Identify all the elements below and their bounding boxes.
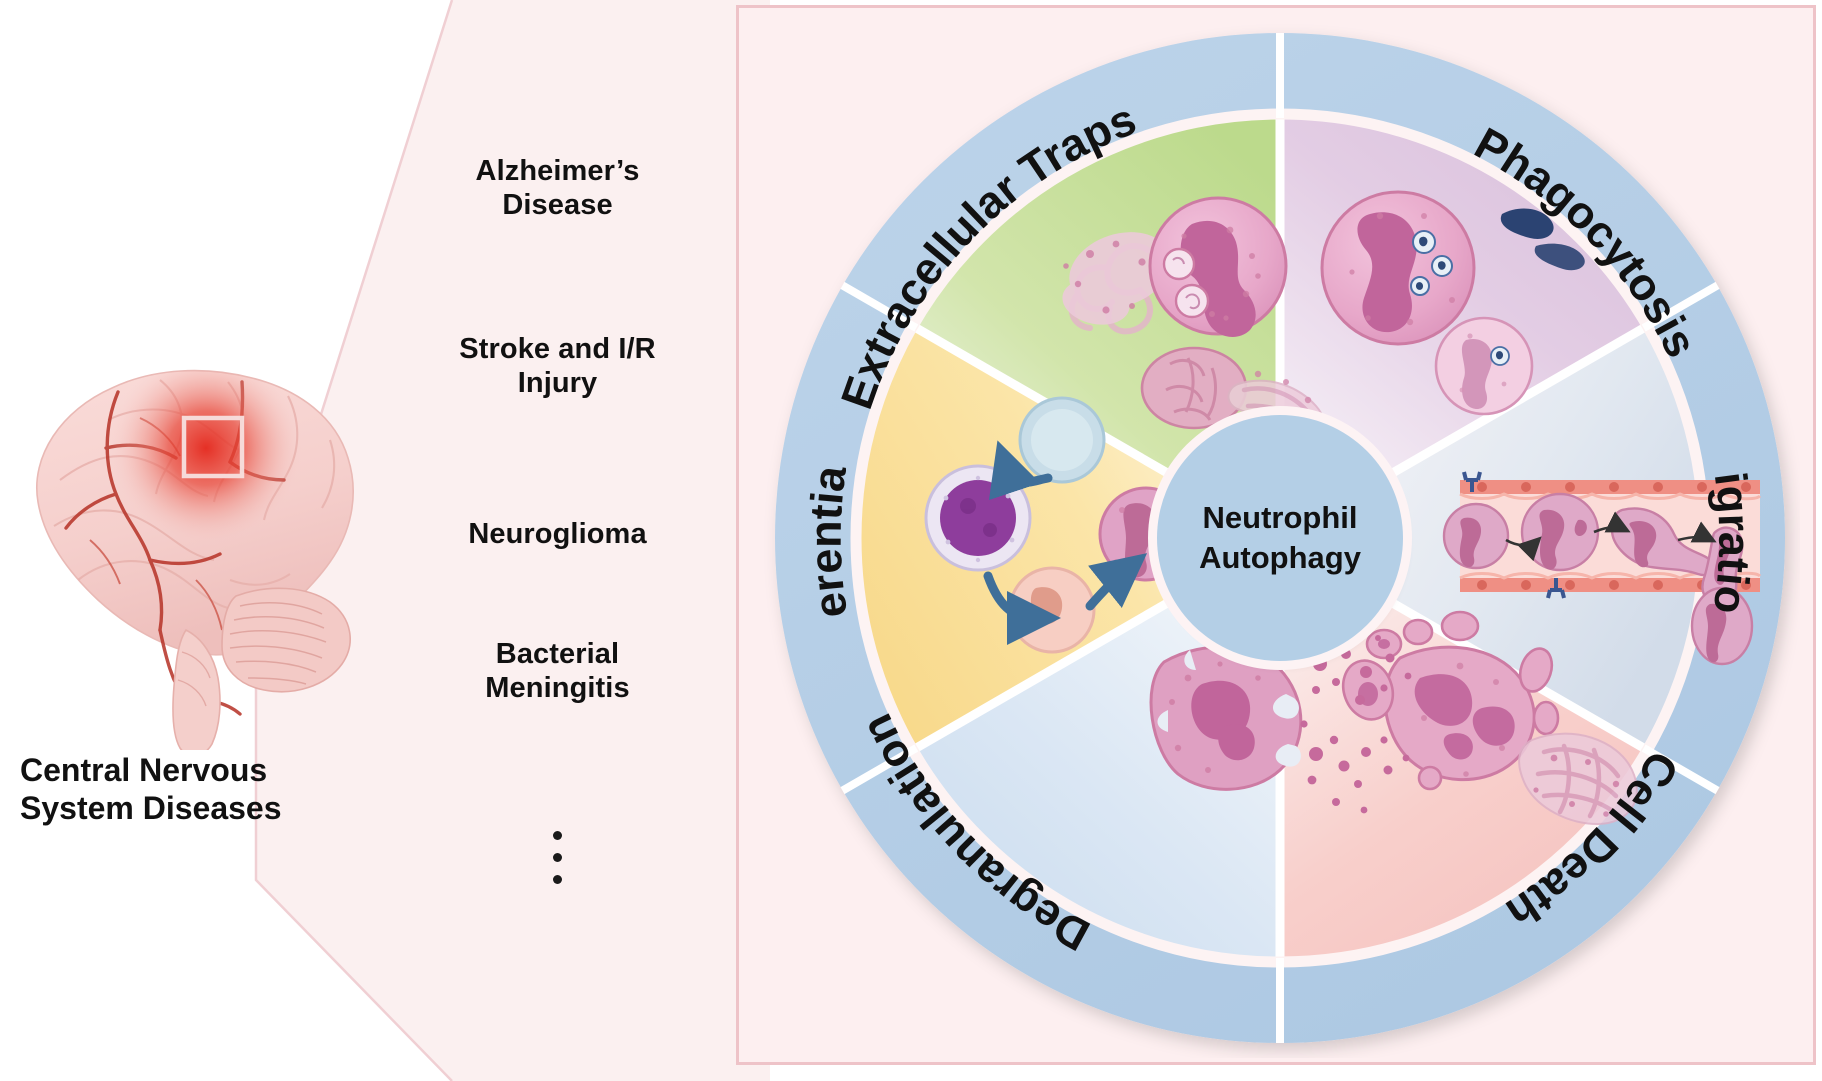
page-title-line-1: Central Nervous bbox=[20, 752, 267, 788]
phagocytosing-neutrophil bbox=[1322, 192, 1474, 344]
center-label-line-2: Autophagy bbox=[1199, 538, 1361, 578]
neutrophil-with-phagosomes bbox=[1150, 198, 1286, 337]
page-title: Central Nervous System Diseases bbox=[20, 752, 360, 828]
disease-line-1: Bacterial bbox=[496, 638, 619, 670]
ellipsis-dot bbox=[553, 853, 562, 862]
neutrophil-small bbox=[1436, 318, 1532, 414]
progenitor-cell bbox=[1020, 398, 1104, 482]
ellipsis-dot bbox=[553, 875, 562, 884]
band-cell bbox=[1010, 568, 1094, 652]
disease-line-2: Meningitis bbox=[485, 672, 629, 704]
brain-illustration bbox=[0, 330, 430, 750]
disease-label-alzheimers: Alzheimer’s Disease bbox=[430, 155, 685, 222]
disease-label-stroke: Stroke and I/R Injury bbox=[430, 333, 685, 400]
disease-line-1: Neuroglioma bbox=[468, 518, 646, 550]
disease-label-neuroglioma: Neuroglioma bbox=[430, 518, 685, 552]
vertical-ellipsis bbox=[430, 818, 685, 884]
page-title-line-2: System Diseases bbox=[20, 790, 282, 826]
ellipsis-dot bbox=[553, 831, 562, 840]
disease-line-2: Disease bbox=[502, 189, 612, 221]
left-panel: Alzheimer’s Disease Stroke and I/R Injur… bbox=[0, 0, 770, 1081]
disease-label-bacterial-meningitis: Bacterial Meningitis bbox=[430, 638, 685, 705]
center-label-line-1: Neutrophil bbox=[1203, 498, 1358, 538]
disease-line-2: Injury bbox=[518, 367, 598, 399]
disease-line-1: Stroke and I/R bbox=[459, 333, 655, 365]
neutrophil-autophagy-wheel: Extracellular Traps Phagocytosis Migrati… bbox=[760, 18, 1800, 1058]
disease-line-1: Alzheimer’s bbox=[476, 155, 640, 187]
wheel-center-label: Neutrophil Autophagy bbox=[1157, 415, 1403, 661]
